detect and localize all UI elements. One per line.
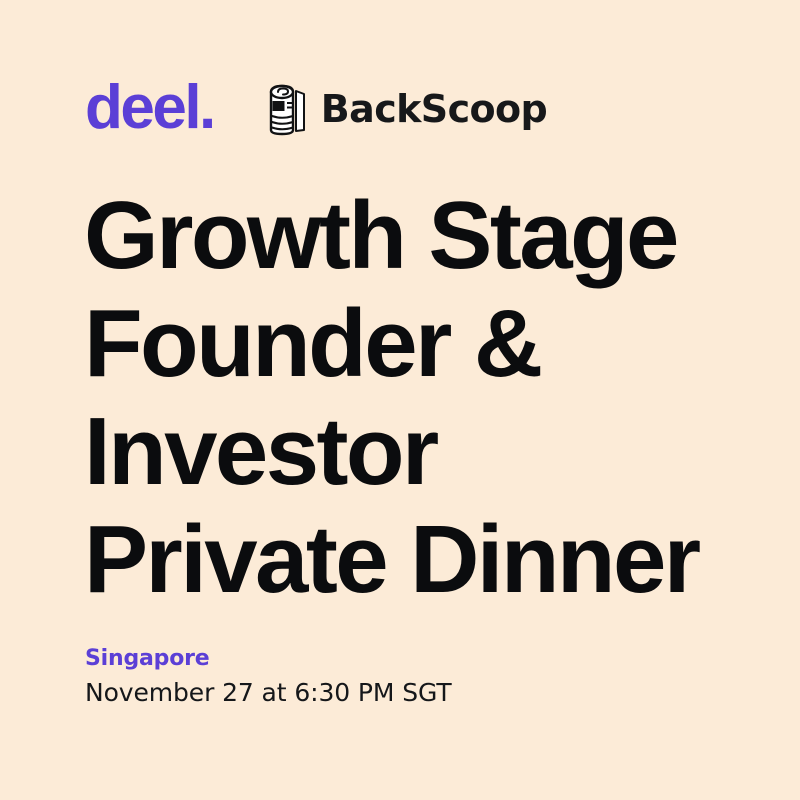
backscoop-wordmark: BackScoop <box>321 90 547 128</box>
headline-line-1: Growth Stage <box>84 182 744 290</box>
event-poster: deel. BackScoop <box>0 0 800 800</box>
backscoop-logo: BackScoop <box>266 81 547 137</box>
headline-line-2: Founder & <box>84 290 744 398</box>
event-details: Singapore November 27 at 6:30 PM SGT <box>85 645 452 710</box>
rolled-newspaper-icon <box>266 81 310 137</box>
event-datetime: November 27 at 6:30 PM SGT <box>85 676 452 710</box>
page-title: Growth Stage Founder & Investor Private … <box>84 182 744 614</box>
headline-line-4: Private Dinner <box>84 506 744 614</box>
event-location: Singapore <box>85 645 452 673</box>
brand-logo-row: deel. BackScoop <box>85 78 547 140</box>
headline-line-3: Investor <box>84 398 744 506</box>
deel-logo: deel. <box>85 77 214 139</box>
